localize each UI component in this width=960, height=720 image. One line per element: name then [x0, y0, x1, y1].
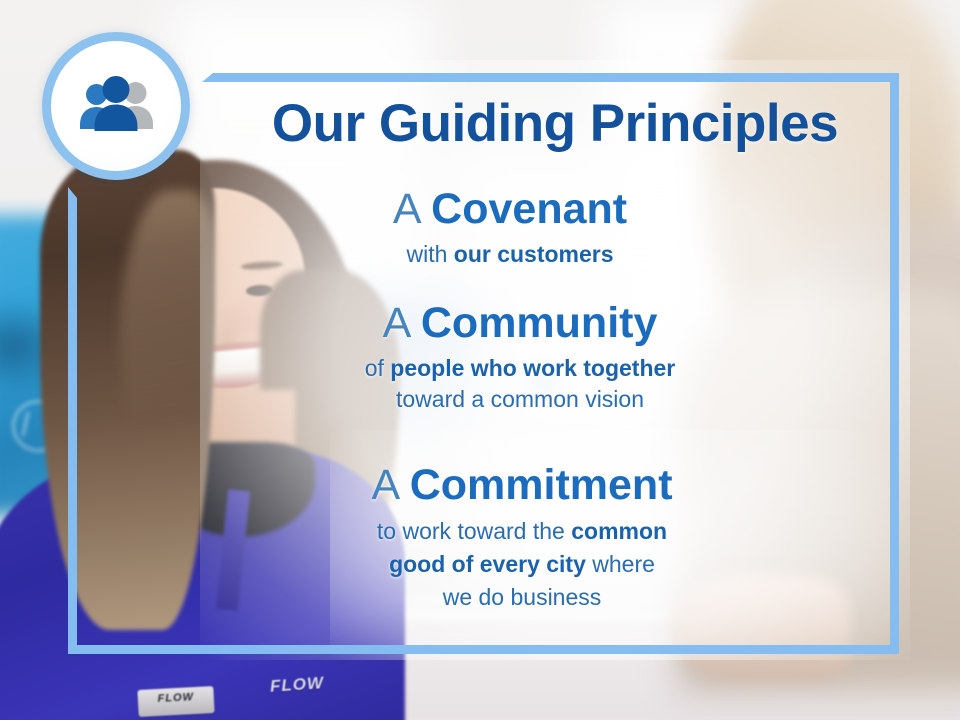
principle-article-commitment: A [371, 461, 397, 509]
principle-keyword-covenant: Covenant [431, 185, 627, 233]
principle-lead-covenant: A Covenant [140, 186, 880, 232]
frame-border-bottom [68, 645, 899, 654]
people-group-icon [73, 75, 159, 137]
name-badge-brand-text: FLOW [138, 690, 215, 706]
principle-lead-commitment: A Commitment [152, 462, 892, 508]
principle-sub-covenant: with our customers [140, 239, 880, 270]
employee-name-badge: FLOW [137, 686, 214, 717]
principle-sub-commitment: to work toward the commongood of every c… [152, 515, 892, 613]
poster-canvas: FLOW FLOW [0, 0, 960, 720]
principle-block-community: A Community of people who work togethert… [150, 300, 890, 415]
principle-block-covenant: A Covenant with our customers [140, 186, 880, 270]
principle-block-commitment: A Commitment to work toward the commongo… [152, 462, 892, 613]
principle-article-covenant: A [393, 185, 419, 233]
principle-keyword-commitment: Commitment [410, 461, 673, 509]
principle-article-community: A [383, 299, 409, 347]
frame-border-top [213, 73, 899, 82]
principle-lead-community: A Community [150, 300, 890, 346]
frame-border-left [68, 198, 77, 654]
page-title: Our Guiding Principles [215, 96, 895, 151]
principle-keyword-community: Community [421, 299, 658, 347]
guiding-principles-badge [42, 32, 190, 180]
principle-sub-community: of people who work togethertoward a comm… [150, 353, 890, 415]
shirt-chest-logo: FLOW [269, 673, 324, 697]
